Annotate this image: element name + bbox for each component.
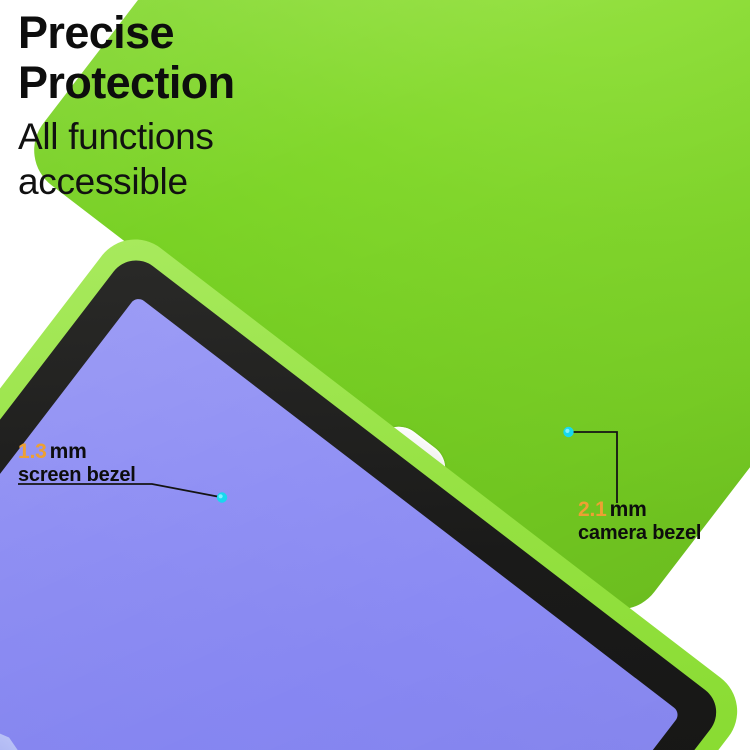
headline-block: Precise Protection All functions accessi…: [18, 8, 348, 204]
iceberg-shape: [0, 618, 92, 750]
headline-line-1: Precise: [18, 8, 348, 58]
subheadline-line-1: All functions: [18, 114, 348, 159]
screen-bezel-measure-row: 1.3mm: [18, 440, 136, 464]
subheadline-line-2: accessible: [18, 159, 348, 204]
camera-bezel-unit: mm: [610, 498, 647, 521]
product-marketing-image: Precise Protection All functions accessi…: [0, 0, 750, 750]
callout-screen-bezel: 1.3mm screen bezel: [18, 440, 136, 487]
camera-bezel-value: 2.1: [578, 498, 607, 521]
headline-line-2: Protection: [18, 58, 348, 108]
iceberg-wallpaper: [0, 697, 373, 750]
camera-bezel-label: camera bezel: [578, 522, 701, 545]
screen-bezel-value: 1.3: [18, 440, 47, 463]
screen-bezel-unit: mm: [50, 440, 87, 463]
screen-bezel-label: screen bezel: [18, 464, 136, 487]
iceberg-shape: [0, 722, 141, 750]
camera-bezel-measure-row: 2.1mm: [578, 498, 701, 522]
callout-camera-bezel: 2.1mm camera bezel: [578, 498, 701, 545]
subheadline-block: All functions accessible: [18, 114, 348, 204]
